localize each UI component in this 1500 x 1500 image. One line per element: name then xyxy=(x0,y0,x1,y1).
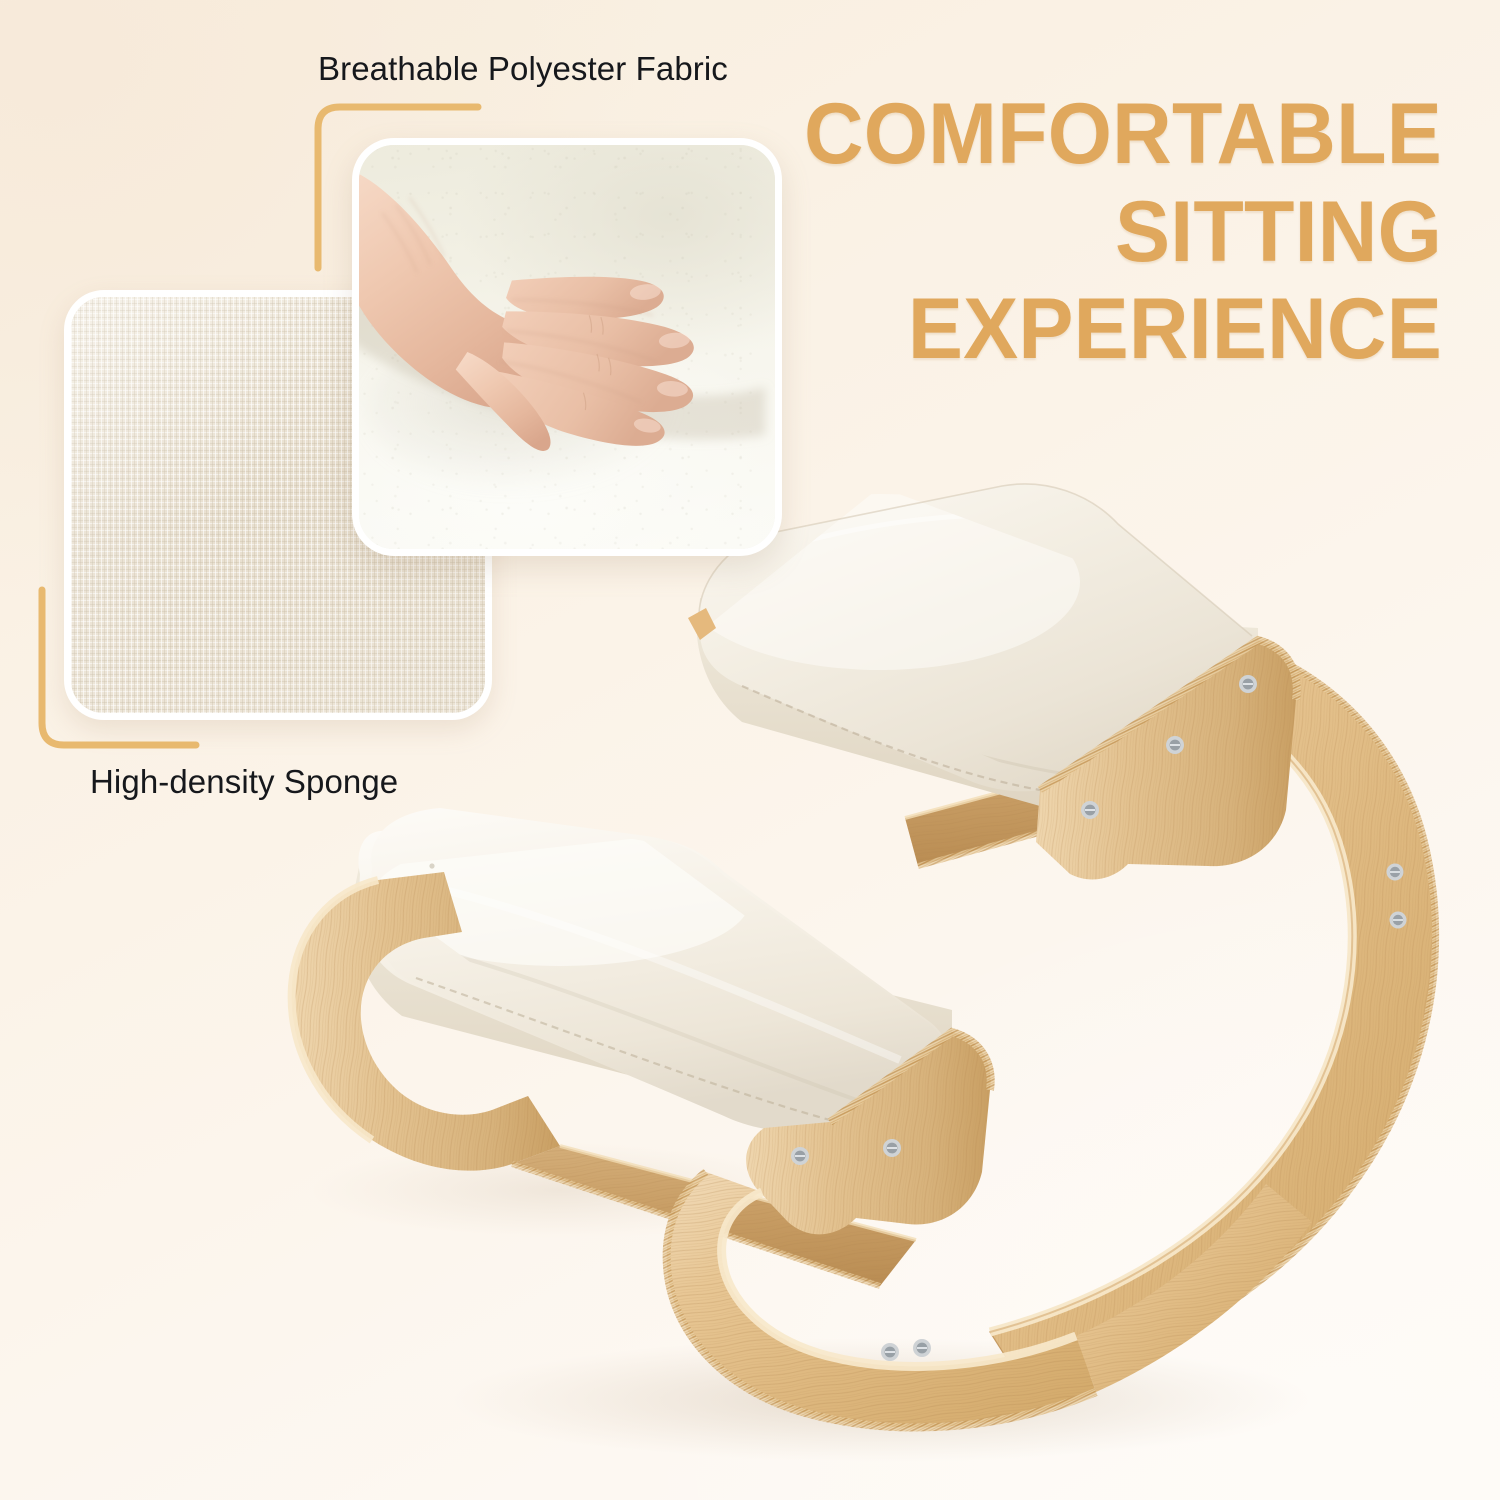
screw xyxy=(1387,864,1404,881)
hand-pressing-foam-image xyxy=(352,138,782,556)
screw xyxy=(791,1147,809,1165)
screw xyxy=(1390,912,1407,929)
page-headline: COMFORTABLE SITTING EXPERIENCE xyxy=(722,92,1442,373)
hand-illustration xyxy=(359,145,775,549)
screw xyxy=(881,1343,899,1361)
screw xyxy=(1081,801,1099,819)
headline-line-2: SITTING xyxy=(751,190,1442,276)
headline-line-3: EXPERIENCE xyxy=(751,287,1442,373)
screw xyxy=(1239,675,1257,693)
screw xyxy=(883,1139,901,1157)
headline-line-1: COMFORTABLE xyxy=(751,92,1442,178)
screw xyxy=(1166,736,1184,754)
caption-high-density-sponge: High-density Sponge xyxy=(90,763,398,801)
screw xyxy=(913,1339,931,1357)
knee-pad-cushion xyxy=(352,808,952,1131)
caption-breathable-polyester-fabric: Breathable Polyester Fabric xyxy=(318,50,728,88)
